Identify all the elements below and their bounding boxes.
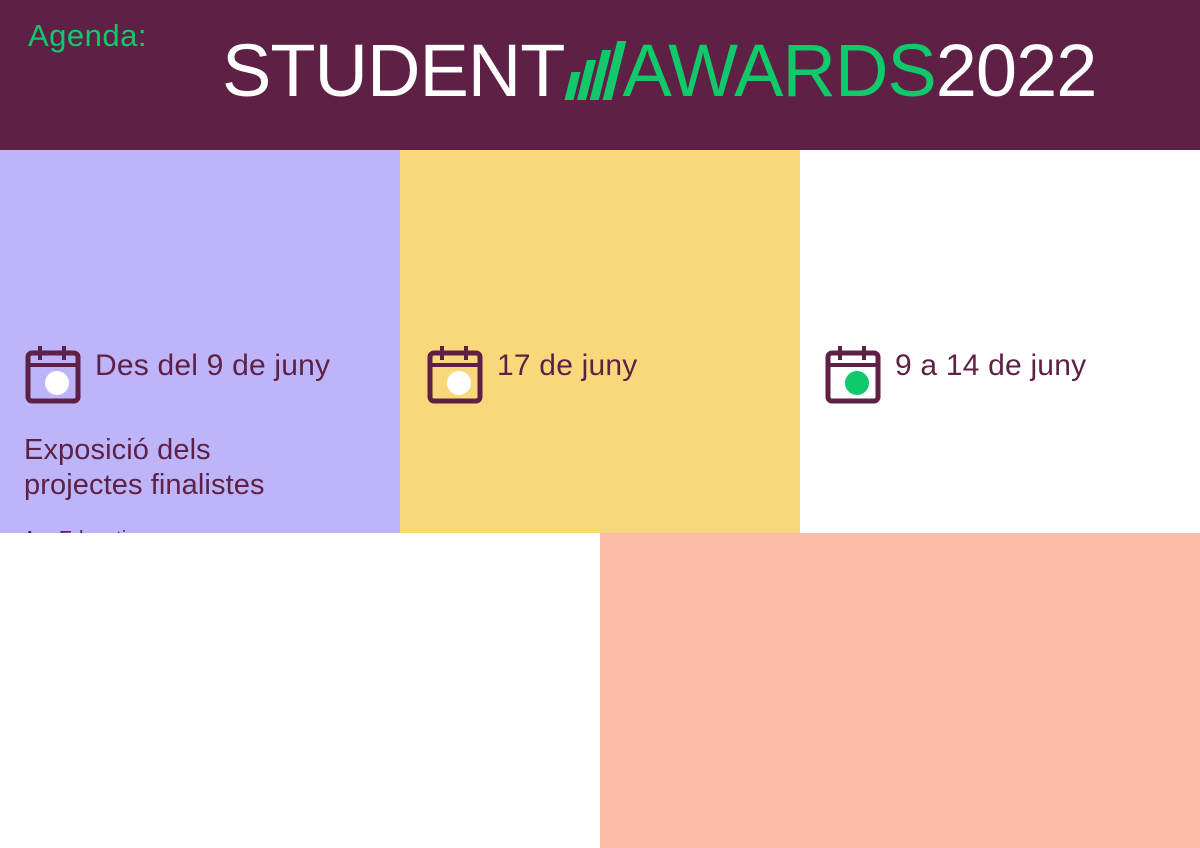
poster-title: STUDENT AWARDS 2022 (222, 34, 1096, 108)
title-awards: AWARDS (622, 34, 935, 108)
poster-header: Agenda: STUDENT AWARDS 2022 (0, 0, 1200, 150)
card-date: 9 a 14 de juny (895, 340, 1086, 382)
date-head: 17 de juny (427, 340, 637, 404)
agenda-card-cerimonia: 17 de juny 12.30 h. a 13.30 h. Cerimònia… (600, 533, 1200, 848)
calendar-icon (825, 344, 881, 404)
agenda-label: Agenda: (28, 18, 147, 54)
agenda-card-presentacions-orals: 13 a 15 de juny Presentacions orals dels… (0, 533, 600, 848)
title-student: STUDENT (222, 34, 564, 108)
card-date: Des del 9 de juny (95, 340, 330, 382)
date-head: Des del 9 de juny (25, 340, 330, 404)
card-date: 17 de juny (497, 340, 637, 382)
agenda-card-valoracio-jurat: 9 a 14 de juny Valoració dels projectes … (800, 150, 1200, 533)
calendar-icon (25, 344, 81, 404)
agenda-card-jornada-scratch: 17 de juny 10h a 11.45 h. Jornada Scratc… (400, 150, 800, 533)
card-headline: Exposició dels projectes finalistes (24, 433, 384, 503)
agenda-card-exposicio: Des del 9 de juny Exposició dels project… (0, 150, 400, 533)
date-head: 9 a 14 de juny (825, 340, 1086, 404)
agenda-poster: Agenda: STUDENT AWARDS 2022 Des del 9 de… (0, 0, 1200, 848)
slash-marks-icon (566, 40, 622, 100)
title-year: 2022 (936, 34, 1097, 108)
calendar-icon (427, 344, 483, 404)
